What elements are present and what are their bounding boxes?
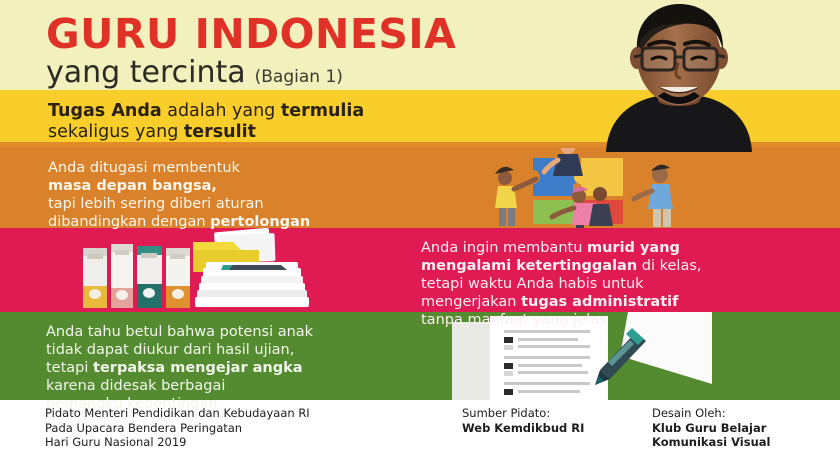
orange-band-text: Anda ditugasi membentukmasa depan bangsa… [48, 159, 310, 231]
minister-portrait-photo [592, 0, 766, 152]
text-line: tetapi terpaksa mengejar angka [46, 359, 313, 377]
source-label: Sumber Pidato: [462, 406, 584, 421]
text-line: tapi lebih sering diberi aturan [48, 195, 310, 213]
design-value-2: Komunikasi Visual [652, 435, 770, 449]
text-line: masa depan bangsa, [48, 177, 310, 195]
text-line: mengerjakan tugas administratif [421, 293, 702, 311]
green-band-text: Anda tahu betul bahwa potensi anaktidak … [46, 323, 313, 413]
text-line: mengalami ketertinggalan di kelas, [421, 257, 702, 275]
source-value: Web Kemdikbud RI [462, 421, 584, 435]
infographic-poster: GURU INDONESIA yang tercinta (Bagian 1) … [0, 0, 840, 450]
footer-designer: Desain Oleh: Klub Guru Belajar Komunikas… [652, 406, 770, 450]
yellow-band-text: Tugas Anda adalah yang termuliasekaligus… [48, 101, 364, 143]
puzzle-pieces-people-icon [478, 148, 728, 228]
footer-speech-info: Pidato Menteri Pendidikan dan Kebudayaan… [45, 406, 310, 450]
pink-band-text: Anda ingin membantu murid yangmengalami … [421, 239, 702, 329]
text-line: karena didesak berbagai [46, 377, 313, 395]
text-line: tidak dapat diukur dari hasil ujian, [46, 341, 313, 359]
text-line: dibandingkan dengan pertolongan [48, 213, 310, 231]
text-line: tetapi waktu Anda habis untuk [421, 275, 702, 293]
text-line: sekaligus yang tersulit [48, 122, 364, 143]
footer-source: Sumber Pidato: Web Kemdikbud RI [462, 406, 584, 435]
design-label: Desain Oleh: [652, 406, 770, 421]
title-subtitle: yang tercinta [46, 57, 246, 89]
text-line: Anda ingin membantu murid yang [421, 239, 702, 257]
footer-line: Pada Upacara Bendera Peringatan [45, 421, 310, 436]
title-main: GURU INDONESIA [46, 12, 456, 56]
title-part-label: (Bagian 1) [255, 67, 343, 87]
page-title: GURU INDONESIA yang tercinta (Bagian 1) [46, 12, 456, 89]
text-line: Anda tahu betul bahwa potensi anak [46, 323, 313, 341]
text-line: Anda ditugasi membentuk [48, 159, 310, 177]
text-line: Tugas Anda adalah yang termulia [48, 101, 364, 122]
binders-folder-paper-stack-icon [75, 228, 365, 312]
design-value-1: Klub Guru Belajar [652, 421, 766, 435]
footer-line: Hari Guru Nasional 2019 [45, 435, 310, 450]
footer-line: Pidato Menteri Pendidikan dan Kebudayaan… [45, 406, 310, 421]
text-line: tanpa manfaat yang jelas [421, 311, 702, 329]
